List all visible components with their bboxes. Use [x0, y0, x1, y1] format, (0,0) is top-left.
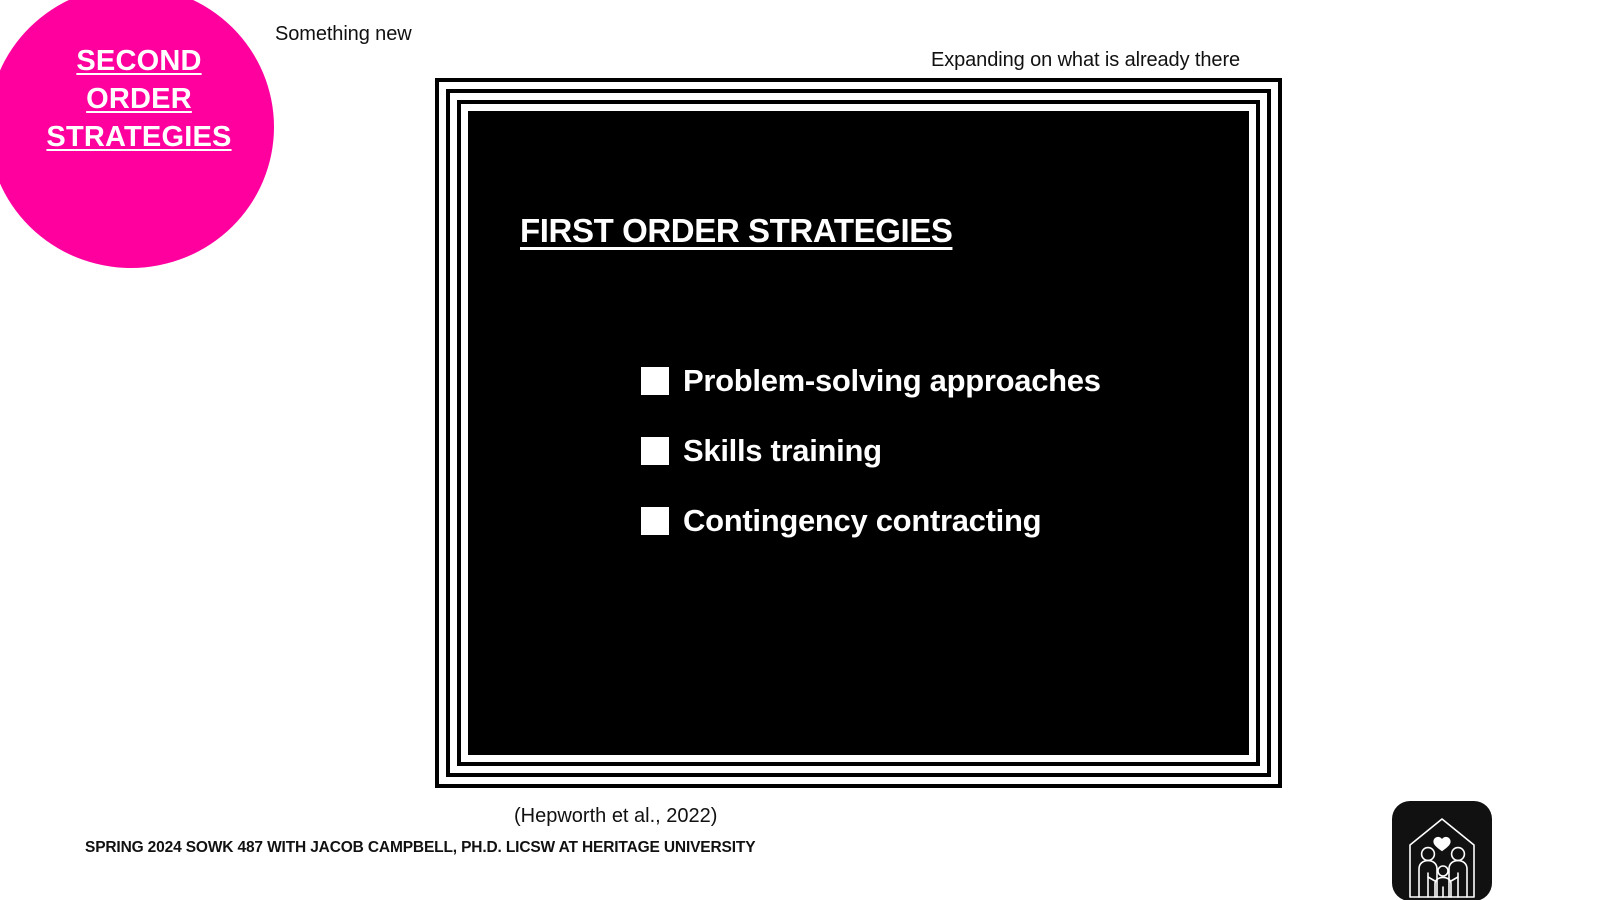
- source-citation: (Hepworth et al., 2022): [514, 805, 717, 828]
- first-order-panel-frame-middle: FIRST ORDER STRATEGIES Problem-solving a…: [446, 89, 1271, 777]
- second-order-strategies-badge: SECOND ORDER STRATEGIES: [0, 0, 274, 268]
- panel-title: FIRST ORDER STRATEGIES: [520, 212, 952, 250]
- annotation-expanding-on-existing: Expanding on what is already there: [931, 49, 1240, 72]
- list-item: Contingency contracting: [641, 499, 1101, 543]
- first-order-panel-body: FIRST ORDER STRATEGIES Problem-solving a…: [468, 111, 1249, 755]
- filled-square-bullet-icon: [641, 437, 669, 465]
- filled-square-bullet-icon: [641, 507, 669, 535]
- annotation-something-new: Something new: [275, 23, 412, 46]
- badge-label: SECOND ORDER STRATEGIES: [24, 42, 254, 157]
- list-item-label: Problem-solving approaches: [683, 363, 1101, 399]
- slide-canvas: SECOND ORDER STRATEGIES Something new Ex…: [0, 0, 1600, 900]
- list-item: Problem-solving approaches: [641, 359, 1101, 403]
- first-order-strategies-list: Problem-solving approaches Skills traini…: [641, 359, 1101, 543]
- slide-footer: SPRING 2024 SOWK 487 WITH JACOB CAMPBELL…: [85, 839, 755, 857]
- house-family-heart-logo: [1392, 801, 1492, 900]
- list-item: Skills training: [641, 429, 1101, 473]
- list-item-label: Contingency contracting: [683, 503, 1041, 539]
- first-order-panel-frame-inner: FIRST ORDER STRATEGIES Problem-solving a…: [457, 100, 1260, 766]
- first-order-panel-frame-outer: FIRST ORDER STRATEGIES Problem-solving a…: [435, 78, 1282, 788]
- list-item-label: Skills training: [683, 433, 882, 469]
- filled-square-bullet-icon: [641, 367, 669, 395]
